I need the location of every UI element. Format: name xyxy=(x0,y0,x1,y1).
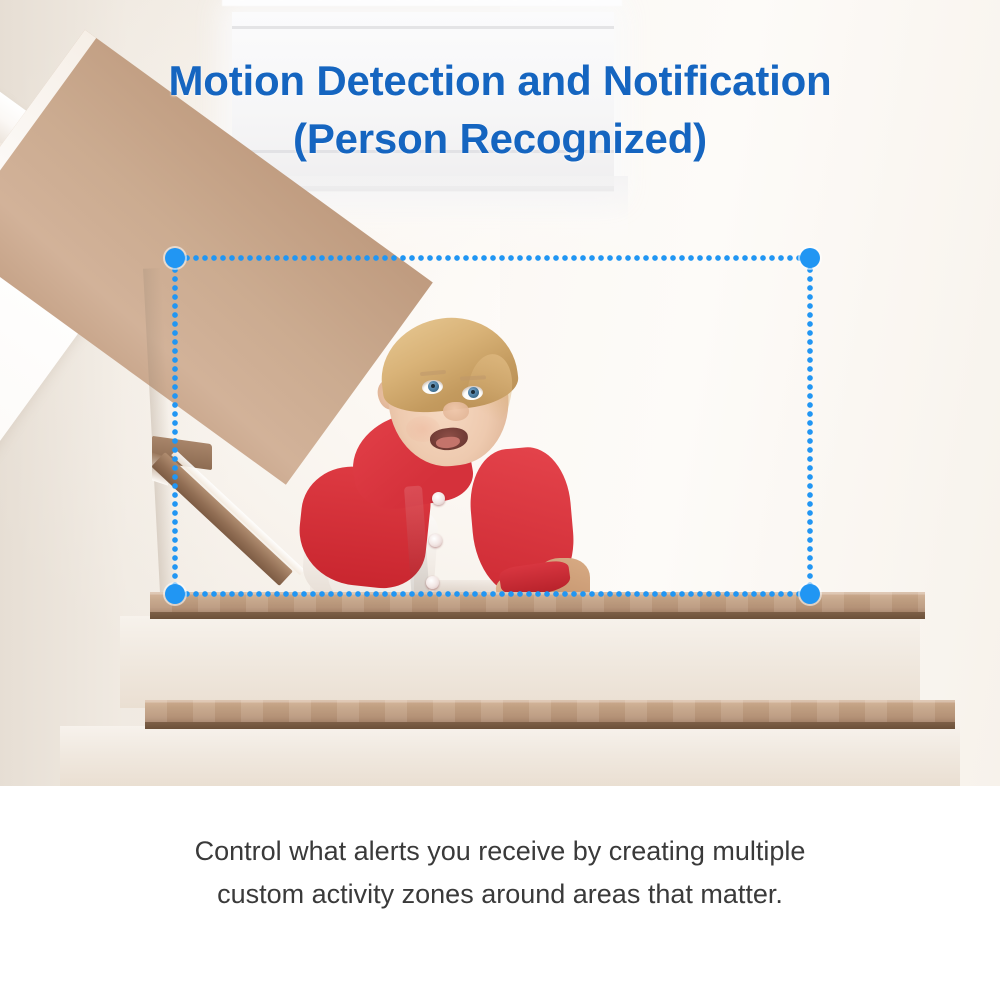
caption-text: Control what alerts you receive by creat… xyxy=(150,830,850,916)
baby-pupil-left xyxy=(431,384,435,388)
wood-grain xyxy=(145,700,955,724)
stair-riser-lower xyxy=(60,726,960,786)
baby-pupil-right xyxy=(471,390,475,394)
promo-panel: Motion Detection and Notification (Perso… xyxy=(0,0,1000,1000)
caption-area: Control what alerts you receive by creat… xyxy=(0,786,1000,1000)
baby-cardigan-button xyxy=(429,534,442,547)
scene-photo: Motion Detection and Notification (Perso… xyxy=(0,0,1000,786)
stair-tread-lower-edge xyxy=(145,722,955,729)
wood-grain xyxy=(150,592,925,614)
page-title: Motion Detection and Notification (Perso… xyxy=(0,52,1000,168)
window-rail-top xyxy=(232,26,614,29)
baby-nose xyxy=(443,402,469,421)
baby-subject xyxy=(300,318,630,600)
stair-tread-upper xyxy=(150,592,925,614)
curtain-valance-scallop xyxy=(228,0,620,16)
baby-cardigan-button xyxy=(426,576,439,589)
stair-tread-upper-edge xyxy=(150,612,925,619)
stair-tread-lower xyxy=(145,700,955,724)
stair-riser-upper xyxy=(120,616,920,708)
baby-cardigan-button xyxy=(432,492,445,505)
